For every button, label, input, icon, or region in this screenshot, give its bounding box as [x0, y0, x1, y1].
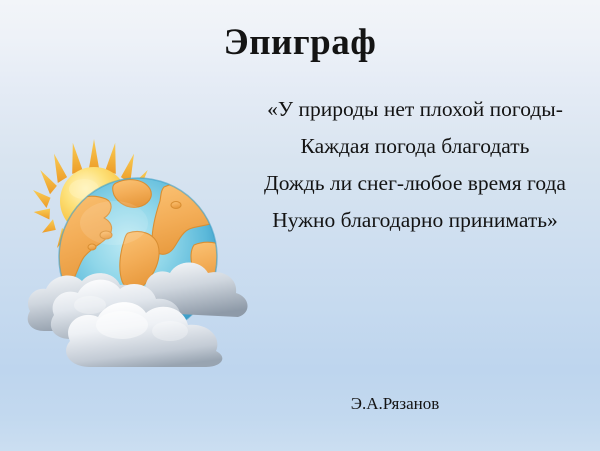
quote-attribution: Э.А.Рязанов	[245, 394, 545, 414]
quote-line-4: Нужно благодарно принимать»	[245, 207, 585, 235]
epigraph-quote: «У природы нет плохой погоды- Каждая пог…	[245, 96, 585, 244]
quote-line-3: Дождь ли снег-любое время года	[245, 170, 585, 198]
quote-line-1: «У природы нет плохой погоды-	[245, 96, 585, 124]
slide-canvas: Эпиграф	[0, 0, 600, 451]
quote-line-2: Каждая погода благодать	[245, 133, 585, 161]
page-title: Эпиграф	[0, 24, 600, 63]
sun-globe-clouds-icon	[18, 135, 268, 380]
